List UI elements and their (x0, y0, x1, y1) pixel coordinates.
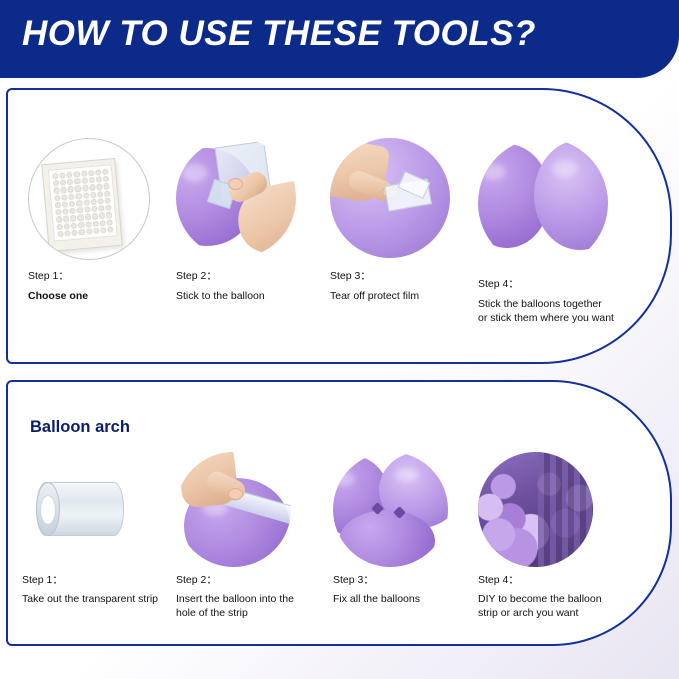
step-image-insert-balloon (176, 452, 291, 567)
step-label: Step 1： (28, 270, 69, 283)
section-1-panel: Step 1： Choose one Step 2： Stick to the … (6, 88, 672, 364)
glue-dot-sheet-icon (41, 158, 122, 252)
step-label: Step 4： (478, 574, 519, 587)
sheet-inner (48, 164, 118, 241)
section1-step-1: Step 1： Choose one (22, 138, 172, 308)
header-banner: HOW TO USE THESE TOOLS? (0, 0, 679, 78)
balloon-highlight-right (552, 160, 578, 177)
page-title: HOW TO USE THESE TOOLS? (22, 14, 536, 54)
step-image-fix-balloons (333, 452, 448, 567)
step-label: Step 3： (333, 574, 374, 587)
balloon-right (534, 140, 608, 250)
section1-step-4: Step 4： Stick the balloons together or s… (478, 138, 653, 318)
step-caption: DIY to become the balloon strip or arch … (478, 593, 648, 620)
step-label: Step 1： (22, 574, 63, 587)
step-image-finished-arch (478, 452, 593, 567)
section-2-panel: Balloon arch Step 1： Take out the transp… (6, 380, 672, 646)
step-image-stick-to-balloon (176, 138, 296, 258)
balloon-bottom (339, 510, 435, 567)
section2-step-3: Step 3： Fix all the balloons (333, 452, 488, 602)
step-label: Step 2： (176, 270, 217, 283)
curtain-drape (538, 452, 593, 567)
step-label: Step 3： (330, 270, 371, 283)
section1-step-3: Step 3： Tear off protect film (330, 138, 485, 308)
balloon-highlight-left (482, 164, 506, 180)
fingernail (228, 178, 243, 190)
step-label: Step 4： (478, 278, 519, 291)
step-image-tear-film (330, 138, 450, 258)
section2-step-1: Step 1： Take out the transparent strip (22, 452, 177, 602)
balloon-highlight-2 (395, 468, 419, 482)
step-label: Step 2： (176, 574, 217, 587)
balloon-arch-photo (478, 452, 593, 567)
step-image-glue-sheet (28, 138, 150, 260)
step-image-balloons-together (478, 138, 608, 268)
step-image-strip-roll (22, 452, 137, 567)
step-caption: Stick the balloons together or stick the… (478, 298, 648, 325)
roll-hole (40, 495, 56, 525)
transparent-strip-roll-icon (36, 482, 124, 536)
balloon-highlight-1 (333, 472, 355, 486)
section2-step-2: Step 2： Insert the balloon into the hole… (176, 452, 336, 612)
section1-step-2: Step 2： Stick to the balloon (176, 138, 331, 308)
balloon-highlight (182, 164, 208, 182)
section-2-title: Balloon arch (30, 418, 130, 437)
fingernail (228, 488, 243, 500)
section2-step-4: Step 4： DIY to become the balloon strip … (478, 452, 653, 612)
glue-dot-grid (52, 169, 113, 238)
infographic-page: HOW TO USE THESE TOOLS? (0, 0, 679, 679)
